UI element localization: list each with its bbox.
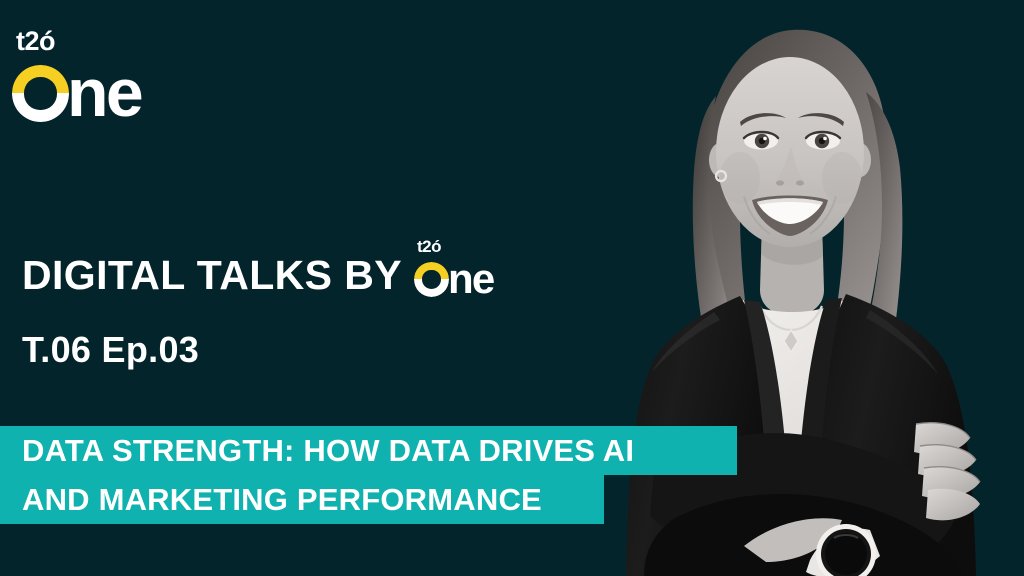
eye-right [806,132,840,150]
inline-logo-o-ring [414,262,449,297]
logo-ne-text: ne [67,59,141,127]
logo-o-top-half-yellow [12,65,69,94]
logo-one-wordmark: ne [12,59,172,127]
eye-left [744,132,778,150]
episode-title-line-1: DATA STRENGTH: HOW DATA DRIVES AI [0,426,737,475]
logo-t2o-text: t2ó [16,28,172,55]
inline-logo-one-wordmark: ne [414,258,503,300]
inline-logo-ne-text: ne [448,258,494,300]
show-title-text: DIGITAL TALKS BY [22,255,402,296]
inline-logo-o-top-half-yellow [414,262,449,280]
show-title-line: DIGITAL TALKS BY t2ó ne [22,238,622,296]
inline-logo-t2o-text: t2ó [417,237,441,256]
inline-logo-o-bottom-half-white [414,279,449,297]
episode-number: T.06 Ep.03 [22,332,622,368]
podcast-episode-cover: t2ó ne DIGITAL TALKS BY t2ó ne [0,0,1024,576]
episode-title-banner: DATA STRENGTH: HOW DATA DRIVES AI AND MA… [0,426,737,524]
headline-block: DIGITAL TALKS BY t2ó ne T.06 Ep.03 [22,238,622,368]
logo-o-bottom-half-white [12,93,69,122]
logo-o-ring [12,65,69,122]
inline-brand-logo: t2ó ne [414,238,503,300]
episode-title-line-2: AND MARKETING PERFORMANCE [0,475,604,524]
brand-logo[interactable]: t2ó ne [12,28,172,120]
